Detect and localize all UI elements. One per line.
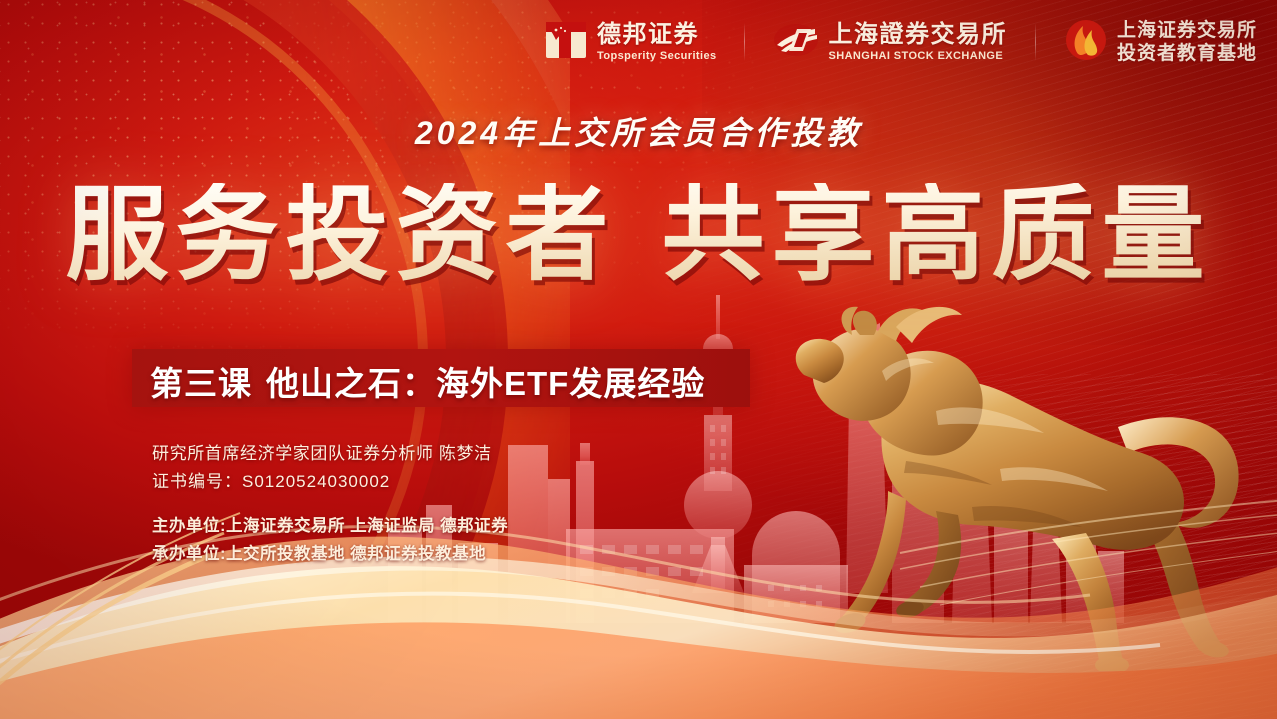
headline-part-2: 共享高质量 [662,177,1212,292]
organizer-units: 承办单位:上交所投教基地 德邦证券投教基地 [152,540,508,568]
topsperity-logo-text: 德邦证券 Topsperity Securities [597,23,716,62]
presenter-role-name: 研究所首席经济学家团队证券分析师 陈梦洁 [152,440,492,468]
lesson-number: 第三课 [150,365,252,402]
topsperity-name-en: Topsperity Securities [597,51,716,62]
event-kicker: 2024年上交所会员合作投教 [0,108,1277,154]
topsperity-name-cn: 德邦证券 [597,23,716,47]
promo-banner: 德邦证券 Topsperity Securities 上海證券交易所 SHANG… [0,0,1277,719]
sse-iedu-name-line1: 上海证券交易所 [1117,21,1257,40]
sse-iedu-logo-text: 上海证券交易所 投资者教育基地 [1117,21,1257,63]
headline-part-1: 服务投资者 [66,177,616,292]
sse-name-cn: 上海證券交易所 [828,23,1007,47]
sse-iedu-name-line2: 投资者教育基地 [1117,44,1257,63]
lesson-title: 第三课他山之石：海外ETF发展经验 [150,357,705,405]
topsperity-t-mark-icon [544,18,588,67]
sse-flame-circle-icon [1064,18,1108,67]
partner-logo-bar: 德邦证券 Topsperity Securities 上海證券交易所 SHANG… [0,0,1277,84]
logo-topsperity-securities: 德邦证券 Topsperity Securities [544,18,716,67]
sse-logo-text: 上海證券交易所 SHANGHAI STOCK EXCHANGE [828,23,1007,62]
organizer-info: 主办单位:上海证券交易所 上海证监局 德邦证券 承办单位:上交所投教基地 德邦证… [152,512,508,569]
logo-divider [1035,23,1036,61]
lesson-subject: 他山之石：海外ETF发展经验 [266,365,705,402]
sse-name-en: SHANGHAI STOCK EXCHANGE [828,51,1007,62]
sse-swoosh-icon [773,20,819,65]
host-units: 主办单位:上海证券交易所 上海证监局 德邦证券 [152,512,508,540]
presenter-certificate: 证书编号：S0120524030002 [152,468,492,496]
logo-divider [744,23,745,61]
logo-sse-investor-education-base: 上海证券交易所 投资者教育基地 [1064,18,1257,67]
main-headline: 服务投资者共享高质量 [0,183,1277,286]
presenter-info: 研究所首席经济学家团队证券分析师 陈梦洁 证书编号：S0120524030002 [152,440,492,495]
logo-shanghai-stock-exchange: 上海證券交易所 SHANGHAI STOCK EXCHANGE [773,20,1007,65]
